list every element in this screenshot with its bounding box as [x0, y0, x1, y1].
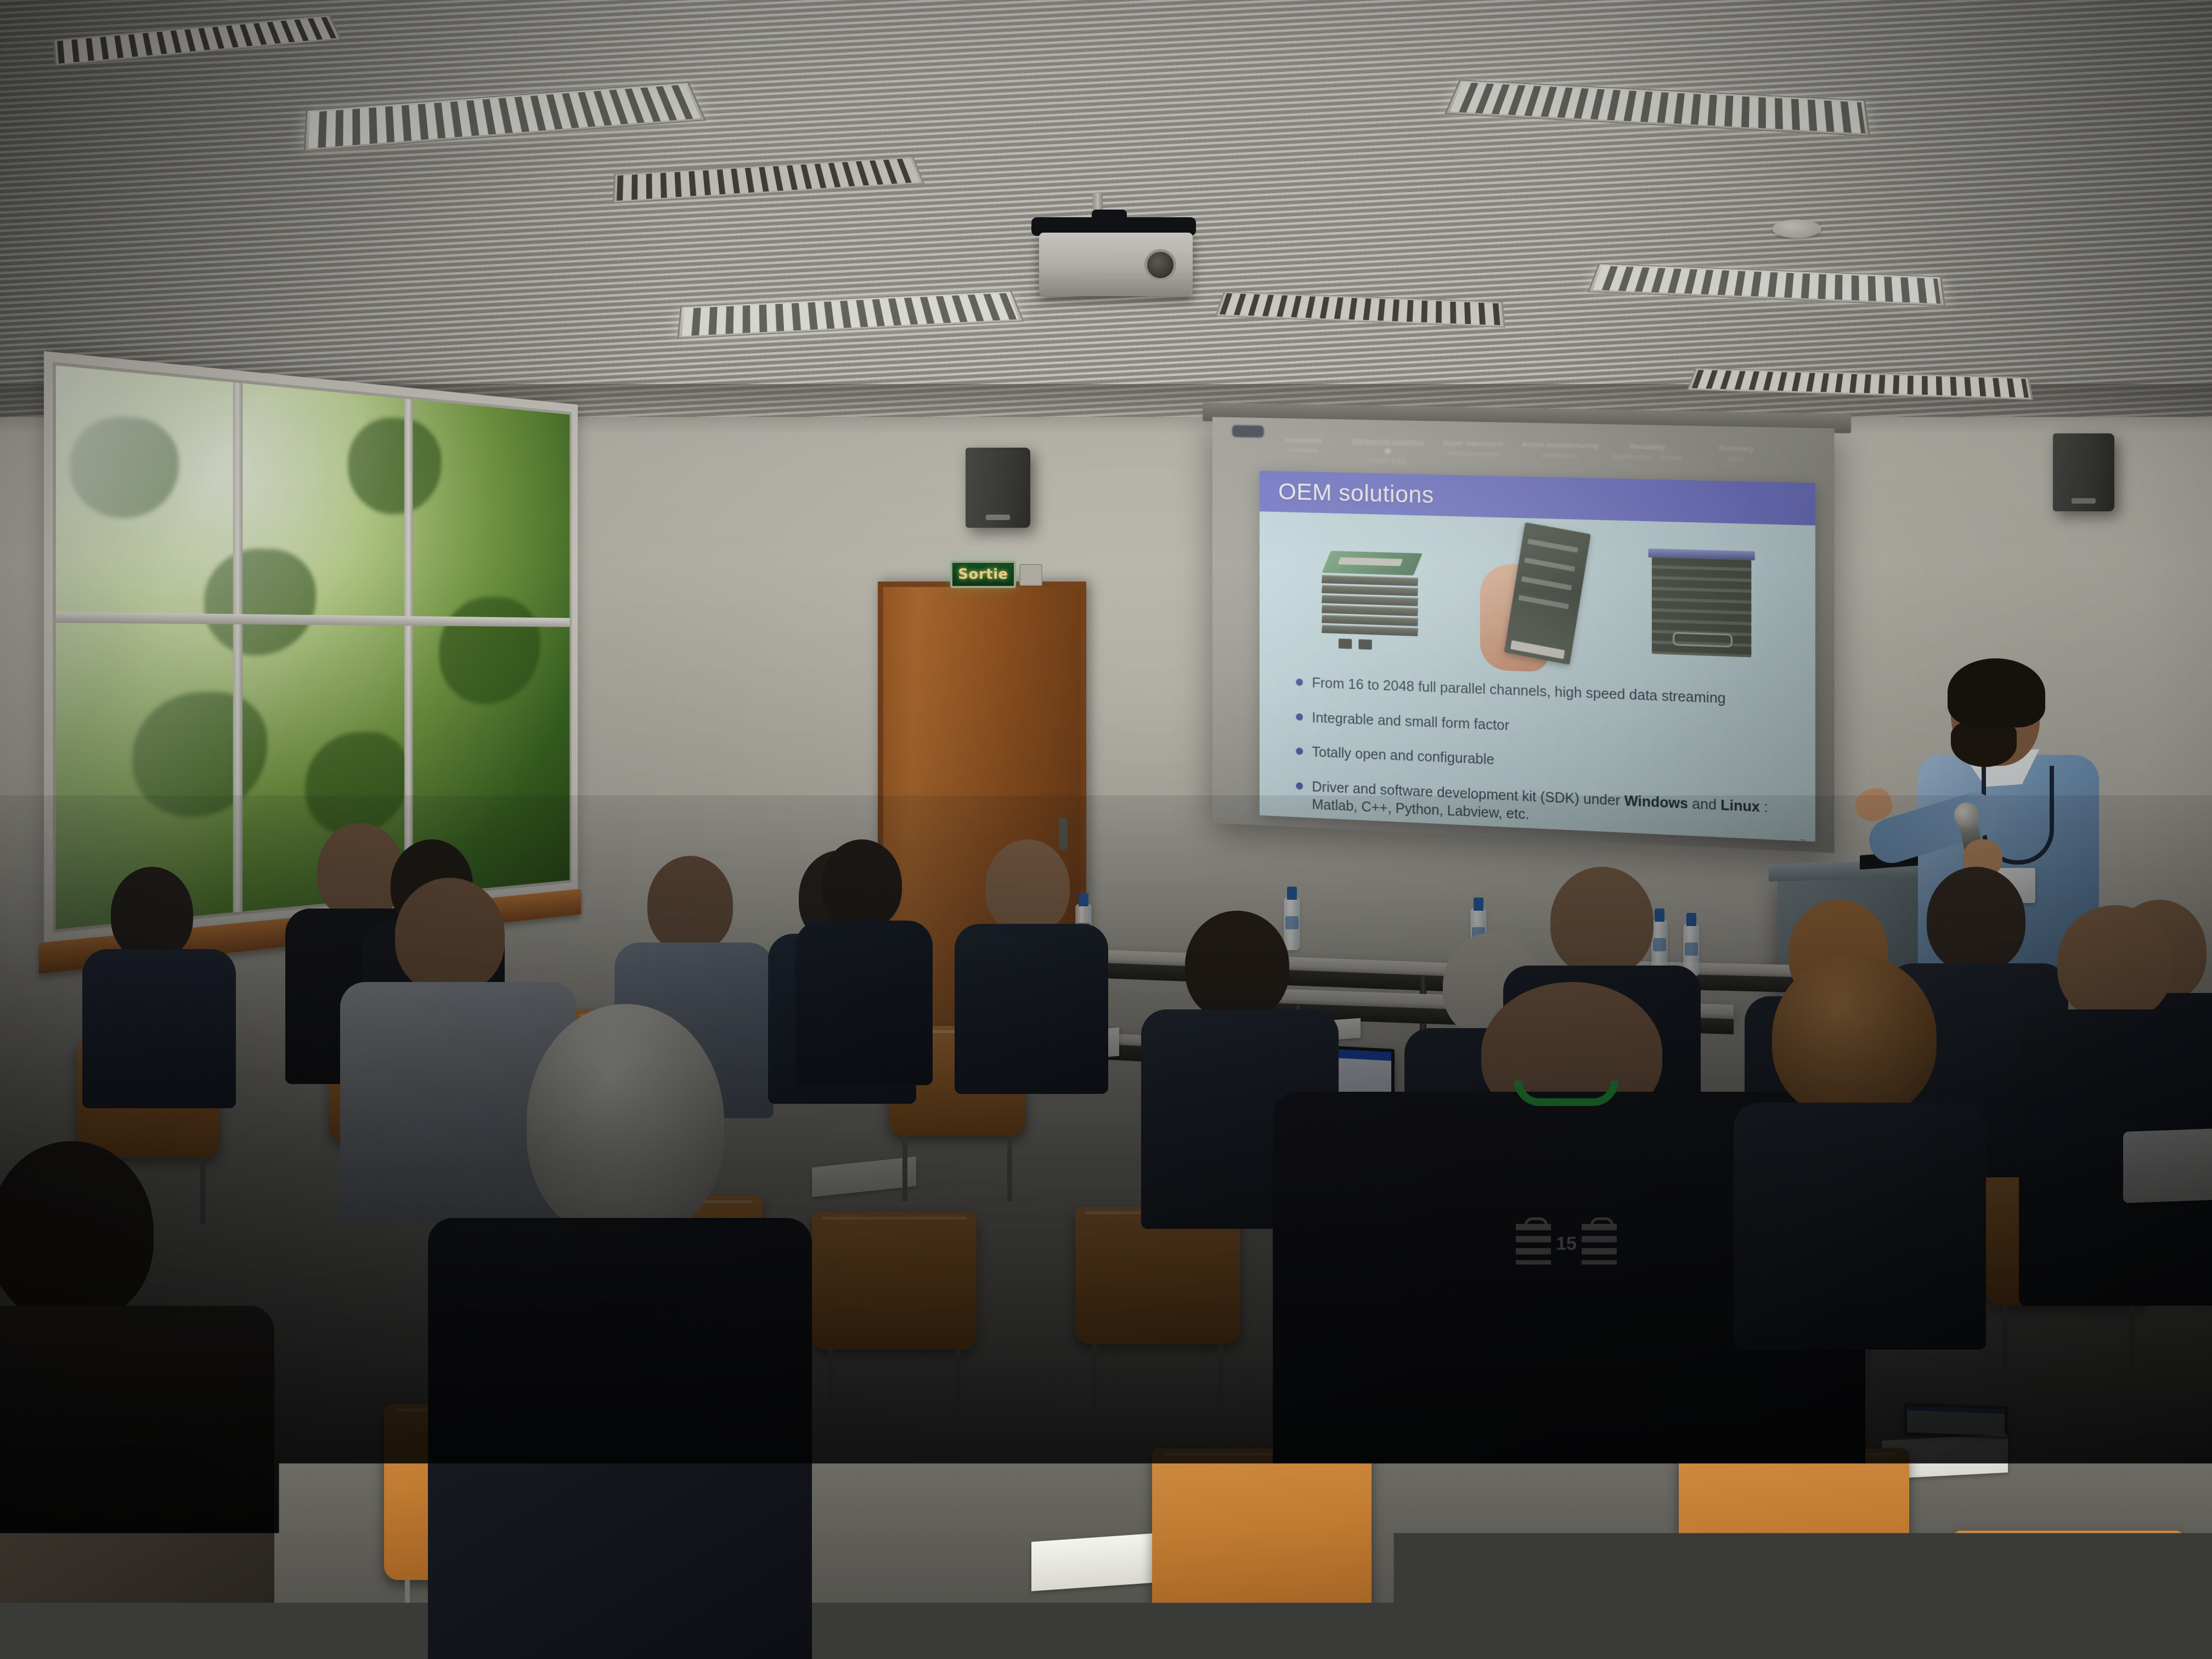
front-view-module-figure [1651, 549, 1751, 665]
current-slide: OEM solutions [1260, 471, 1815, 842]
slide-bullet: Driver and software development kit (SDK… [1296, 777, 1783, 836]
slide-nav-sub: piezocomposite [1430, 448, 1516, 459]
wall-speaker-left [966, 448, 1030, 528]
slide-nav-sub: overview [1262, 444, 1346, 455]
slide-body: From 16 to 2048 full parallel channels, … [1260, 511, 1815, 842]
slide-nav-item[interactable]: Active manufacturing production [1516, 439, 1604, 461]
audience-chair[interactable] [1953, 1531, 2183, 1659]
ceiling-panels [0, 0, 2212, 417]
slide-page-number: 7 [1799, 837, 1806, 842]
slide-title: OEM solutions [1278, 478, 1434, 509]
bullet-text: Totally open and configurable [1312, 743, 1494, 769]
slide-nav-sub: qualification / lifetime [1604, 451, 1692, 462]
audience-chair[interactable] [812, 1212, 977, 1350]
slide-nav-sub: OEM / R&D [1346, 455, 1431, 467]
screen-surface: Innovation overview Ultrasound solutions… [1212, 417, 1835, 853]
exit-sign: Sortie [950, 561, 1016, 588]
stacked-board-module-figure [1319, 550, 1425, 642]
open-laptop[interactable] [1904, 1403, 2008, 1440]
bullet-dot-icon [1296, 782, 1303, 789]
bullet-text-bold-linux: Linux [1720, 797, 1760, 815]
conference-room-scene: Sortie Innovation overview Ultrasound so… [0, 0, 2212, 1659]
window-mullion [233, 370, 243, 925]
slide-bullet: Integrable and small form factor [1296, 708, 1783, 746]
shirt-logo-bars-icon [1582, 1224, 1617, 1265]
audience-member-foreground [428, 1004, 812, 1659]
bullet-text-rich: Driver and software development kit (SDK… [1312, 778, 1783, 836]
projection-screen: Innovation overview Ultrasound solutions… [1212, 417, 1835, 853]
bullet-dot-icon [1296, 747, 1303, 755]
presenter-beard [1951, 721, 2017, 767]
slide-nav-item[interactable]: Reliability qualification / lifetime [1604, 441, 1692, 462]
audience-member-foreground [0, 1141, 274, 1659]
slide-nav-active-dot-icon [1385, 448, 1391, 454]
presenter-hair [1948, 658, 2045, 727]
slide-bullet: Totally open and configurable [1296, 742, 1783, 781]
handheld-board-figure [1476, 530, 1599, 674]
slide-nav-sub: production [1516, 449, 1604, 461]
slide-nav-item[interactable]: Innovation overview [1262, 435, 1346, 455]
wall-sensor-box [1019, 564, 1042, 586]
shirt-logo-number: 15 [1556, 1233, 1577, 1255]
bullet-text: Integrable and small form factor [1312, 709, 1509, 735]
bullet-text-mid: and [1688, 795, 1720, 813]
shirt-logo-bars-icon [1516, 1224, 1551, 1265]
bullet-dot-icon [1296, 679, 1303, 686]
ceiling-projector [1039, 233, 1193, 296]
slide-nav-title: Ultrasound solutions [1346, 436, 1431, 448]
slide-bullet-list: From 16 to 2048 full parallel channels, … [1282, 665, 1792, 837]
projector-lens-icon [1144, 249, 1176, 281]
wall-speaker-right [2053, 433, 2114, 511]
white-bag [2123, 1128, 2212, 1203]
audience-member [795, 839, 933, 1070]
audience-member [2019, 905, 2212, 1300]
bullet-text-bold-windows: Windows [1624, 793, 1688, 811]
exit-sign-label: Sortie [958, 566, 1008, 583]
slide-nav-item-active[interactable]: Ultrasound solutions OEM / R&D [1346, 436, 1431, 467]
bullet-dot-icon [1296, 713, 1303, 721]
slide-nav-item[interactable]: Super transducer piezocomposite [1430, 438, 1516, 459]
shirt-logo: 15 [1503, 1218, 1629, 1270]
smoke-detector-icon [1772, 219, 1821, 238]
audience-member [1734, 955, 1986, 1339]
green-lanyard [1514, 1081, 1618, 1106]
slide-figure-group [1282, 522, 1792, 684]
slide-nav-item[interactable]: Summary Q&A [1692, 443, 1781, 465]
slide-nav-sub: Q&A [1692, 453, 1781, 465]
audience-member [82, 867, 236, 1097]
audience-member [955, 839, 1108, 1086]
